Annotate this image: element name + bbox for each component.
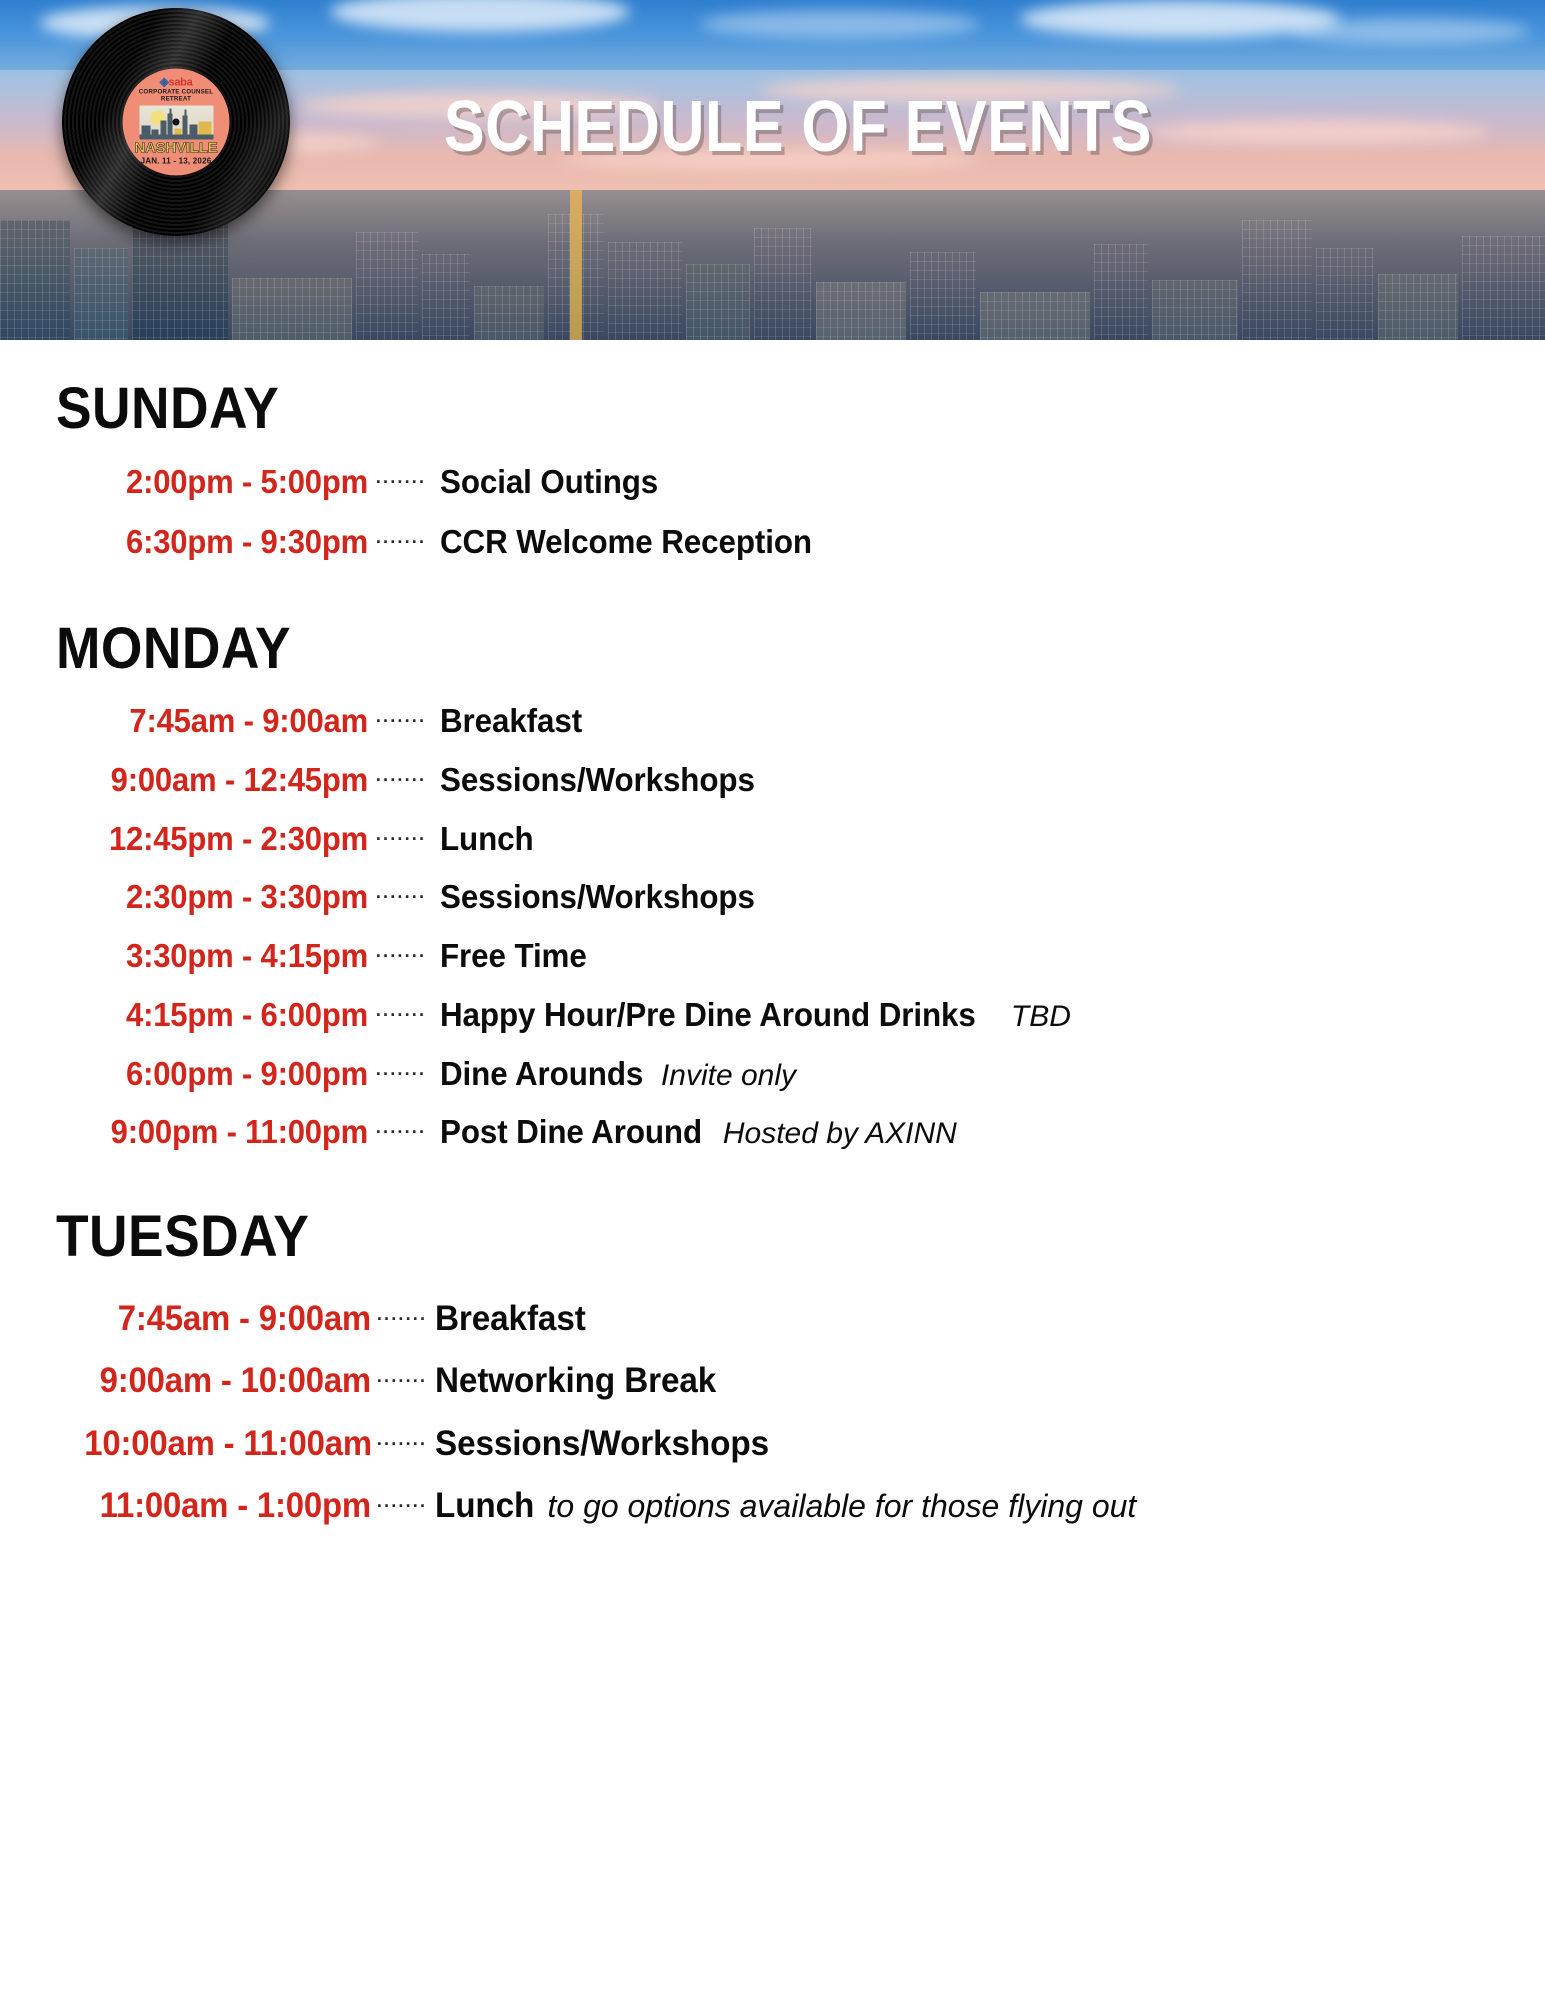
event-row: 12:45pm - 2:30pm ······· Lunch	[0, 810, 1545, 869]
event-label: Sessions/Workshops	[435, 1413, 769, 1475]
day-heading-tuesday: TUESDAY	[56, 1208, 1426, 1266]
event-label: Lunch	[435, 1475, 534, 1537]
dot-leader: ·······	[371, 1490, 433, 1522]
page-title: SCHEDULE OF EVENTS	[116, 86, 1429, 168]
event-row: 2:30pm - 3:30pm ······· Sessions/Worksho…	[0, 868, 1545, 927]
event-time: 3:30pm - 4:15pm	[86, 927, 368, 986]
dot-leader: ·······	[371, 1365, 433, 1397]
event-time: 10:00am - 11:00am	[84, 1413, 371, 1475]
event-row: 4:15pm - 6:00pm ······· Happy Hour/Pre D…	[0, 986, 1545, 1045]
event-row: 2:00pm - 5:00pm ······· Social Outings	[0, 452, 1545, 512]
event-row: 6:00pm - 9:00pm ······· Dine Arounds Inv…	[0, 1045, 1545, 1104]
event-label: Lunch	[440, 810, 534, 869]
event-row: 11:00am - 1:00pm ······· Lunch to go opt…	[0, 1475, 1545, 1537]
cloud	[700, 10, 980, 38]
day-section-tuesday: TUESDAY 7:45am - 9:00am ······· Breakfas…	[0, 1208, 1545, 1537]
dot-leader: ·······	[368, 705, 434, 737]
event-time: 9:00am - 12:45pm	[86, 751, 368, 810]
day-heading-sunday: SUNDAY	[56, 380, 1426, 438]
event-list-tuesday: 7:45am - 9:00am ······· Breakfast 9:00am…	[0, 1288, 1545, 1537]
event-row: 7:45am - 9:00am ······· Breakfast	[0, 692, 1545, 751]
retreat-subtitle: CORPORATE COUNSELRETREAT	[139, 90, 213, 104]
dot-leader: ·······	[368, 526, 434, 559]
dot-leader: ·······	[368, 764, 434, 796]
event-time: 9:00pm - 11:00pm	[86, 1103, 368, 1162]
event-label: Free Time	[440, 927, 587, 986]
day-section-monday: MONDAY 7:45am - 9:00am ······· Breakfast…	[0, 620, 1545, 1162]
event-label: Happy Hour/Pre Dine Around Drinks	[440, 986, 976, 1045]
event-note: Hosted by AXINN	[723, 1107, 957, 1160]
event-row: 10:00am - 11:00am ······· Sessions/Works…	[0, 1413, 1545, 1475]
event-label: Post Dine Around	[440, 1103, 702, 1162]
event-row: 3:30pm - 4:15pm ······· Free Time	[0, 927, 1545, 986]
event-label: Dine Arounds	[440, 1045, 643, 1104]
event-label: Social Outings	[440, 452, 658, 512]
event-time: 9:00am - 10:00am	[84, 1350, 371, 1412]
event-time: 6:00pm - 9:00pm	[86, 1045, 368, 1104]
event-list-monday: 7:45am - 9:00am ······· Breakfast 9:00am…	[0, 692, 1545, 1162]
event-time: 6:30pm - 9:30pm	[86, 512, 368, 572]
event-note: Invite only	[661, 1049, 796, 1102]
event-label: Breakfast	[440, 692, 582, 751]
event-dates: JAN. 11 - 13, 2026	[141, 156, 212, 165]
saba-brand-text: saba	[169, 77, 193, 89]
event-note: to go options available for those flying…	[547, 1478, 1136, 1535]
event-label: Networking Break	[435, 1350, 716, 1412]
event-time: 7:45am - 9:00am	[86, 692, 368, 751]
event-note: TBD	[1011, 990, 1071, 1043]
city-name: NASHVILLE	[134, 140, 217, 155]
dot-leader: ·······	[368, 940, 434, 972]
event-row: 6:30pm - 9:30pm ······· CCR Welcome Rece…	[0, 512, 1545, 572]
event-time: 2:30pm - 3:30pm	[86, 868, 368, 927]
cloud	[1290, 18, 1530, 44]
dot-leader: ·······	[368, 999, 434, 1031]
event-row: 9:00pm - 11:00pm ······· Post Dine Aroun…	[0, 1103, 1545, 1162]
event-row: 9:00am - 12:45pm ······· Sessions/Worksh…	[0, 751, 1545, 810]
schedule-body: SUNDAY 2:00pm - 5:00pm ······· Social Ou…	[0, 340, 1545, 1537]
event-label: Breakfast	[435, 1288, 586, 1350]
saba-brand-logo: ◈saba	[160, 76, 193, 89]
event-time: 7:45am - 9:00am	[84, 1288, 371, 1350]
event-label: Sessions/Workshops	[440, 868, 755, 927]
event-time: 11:00am - 1:00pm	[84, 1475, 371, 1537]
event-time: 2:00pm - 5:00pm	[86, 452, 368, 512]
event-time: 12:45pm - 2:30pm	[86, 810, 368, 869]
dot-leader: ·······	[368, 1116, 434, 1148]
vinyl-record-logo: ◈saba CORPORATE COUNSELRETREAT NASHVILLE…	[62, 8, 290, 236]
dot-leader: ·······	[368, 466, 434, 499]
dot-leader: ·······	[371, 1428, 433, 1460]
dot-leader: ·······	[368, 823, 434, 855]
event-label: Sessions/Workshops	[440, 751, 755, 810]
day-heading-monday: MONDAY	[56, 620, 1426, 678]
record-spindle-hole	[173, 119, 180, 126]
event-label: CCR Welcome Reception	[440, 512, 812, 572]
event-time: 4:15pm - 6:00pm	[86, 986, 368, 1045]
event-list-sunday: 2:00pm - 5:00pm ······· Social Outings 6…	[0, 452, 1545, 572]
dot-leader: ·······	[368, 881, 434, 913]
dot-leader: ·······	[371, 1303, 433, 1335]
event-row: 9:00am - 10:00am ······· Networking Brea…	[0, 1350, 1545, 1412]
event-row: 7:45am - 9:00am ······· Breakfast	[0, 1288, 1545, 1350]
saba-mark-icon: ◈	[160, 75, 169, 89]
dot-leader: ·······	[368, 1058, 434, 1090]
day-section-sunday: SUNDAY 2:00pm - 5:00pm ······· Social Ou…	[0, 380, 1545, 572]
header-banner: SCHEDULE OF EVENTS ◈saba CORPORATE COUNS…	[0, 0, 1545, 340]
